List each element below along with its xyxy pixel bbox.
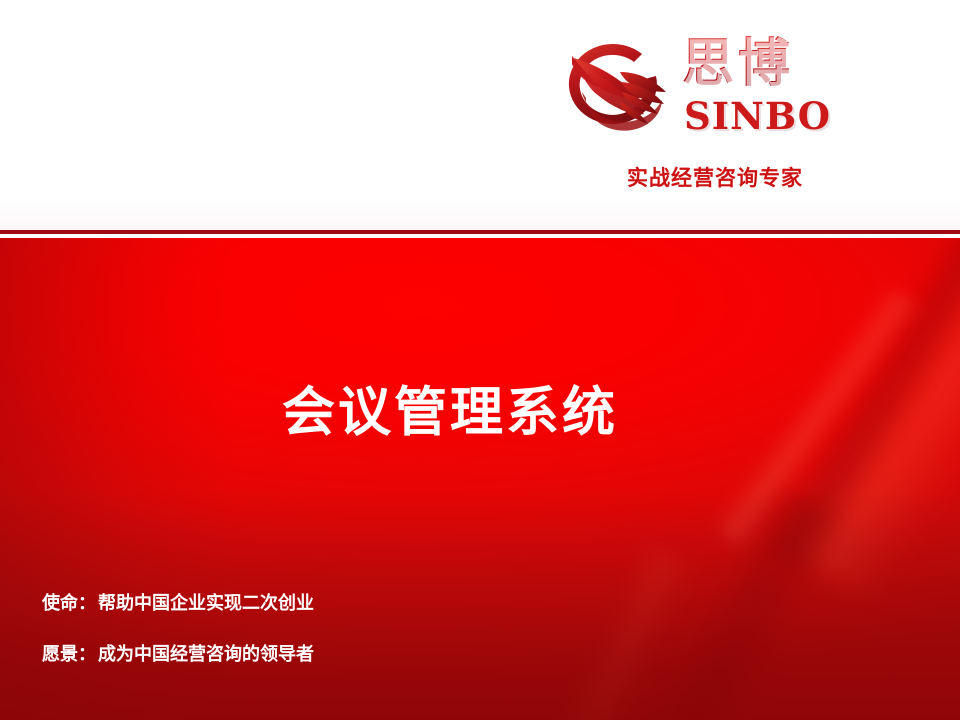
company-tagline: 实战经营咨询专家 — [590, 162, 840, 192]
mission-text: 帮助中国企业实现二次创业 — [98, 593, 314, 614]
logo-wordmark-english: SINBO — [684, 94, 854, 138]
logo-wordmark-chinese: 思博 — [682, 34, 852, 96]
mission-vision-block: 使命：帮助中国企业实现二次创业 愿景：成为中国经营咨询的领导者 — [42, 592, 602, 667]
vision-statement: 愿景：成为中国经营咨询的领导者 — [42, 643, 602, 667]
presentation-slide: 思博 SINBO 实战经营咨询专家 会议管理系统 使命：帮助中国企业实现二次创业… — [0, 0, 960, 720]
vision-text: 成为中国经营咨询的领导者 — [98, 644, 314, 665]
mission-statement: 使命：帮助中国企业实现二次创业 — [42, 592, 602, 616]
slide-header: 思博 SINBO 实战经营咨询专家 — [0, 0, 960, 231]
sinbo-logo: 思博 SINBO 实战经营咨询专家 — [560, 32, 850, 192]
mission-label: 使命： — [42, 593, 96, 614]
page-title: 会议管理系统 — [0, 382, 900, 444]
sinbo-phoenix-ring-emblem — [560, 36, 684, 144]
vision-label: 愿景： — [42, 644, 96, 665]
